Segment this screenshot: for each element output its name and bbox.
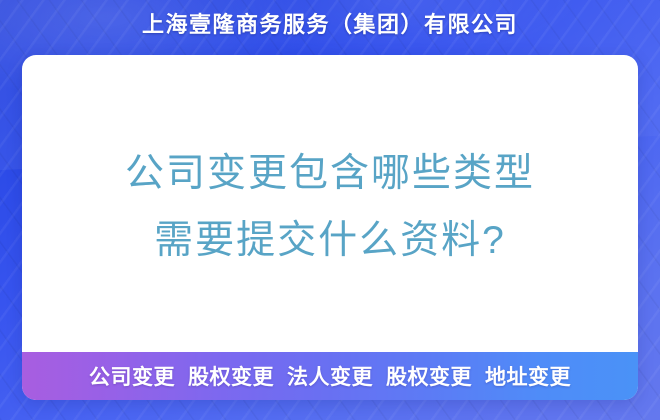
headline-line-1: 公司变更包含哪些类型 [125, 137, 535, 211]
header: 上海壹隆商务服务（集团）有限公司 [0, 10, 660, 40]
company-name-title: 上海壹隆商务服务（集团）有限公司 [142, 10, 518, 40]
tag-item: 法人变更 [287, 361, 373, 391]
card-body: 公司变更包含哪些类型 需要提交什么资料? [22, 55, 638, 352]
content-card: 公司变更包含哪些类型 需要提交什么资料? 公司变更 股权变更 法人变更 股权变更… [22, 55, 638, 400]
tag-item: 公司变更 [89, 361, 175, 391]
tag-item: 地址变更 [485, 361, 571, 391]
tag-item: 股权变更 [386, 361, 472, 391]
headline-line-2: 需要提交什么资料? [154, 211, 506, 271]
tag-list: 公司变更 股权变更 法人变更 股权变更 地址变更 [89, 361, 571, 391]
tag-item: 股权变更 [188, 361, 274, 391]
tag-bar: 公司变更 股权变更 法人变更 股权变更 地址变更 [22, 352, 638, 400]
poster-canvas: 上海壹隆商务服务（集团）有限公司 公司变更包含哪些类型 需要提交什么资料? 公司… [0, 0, 660, 420]
